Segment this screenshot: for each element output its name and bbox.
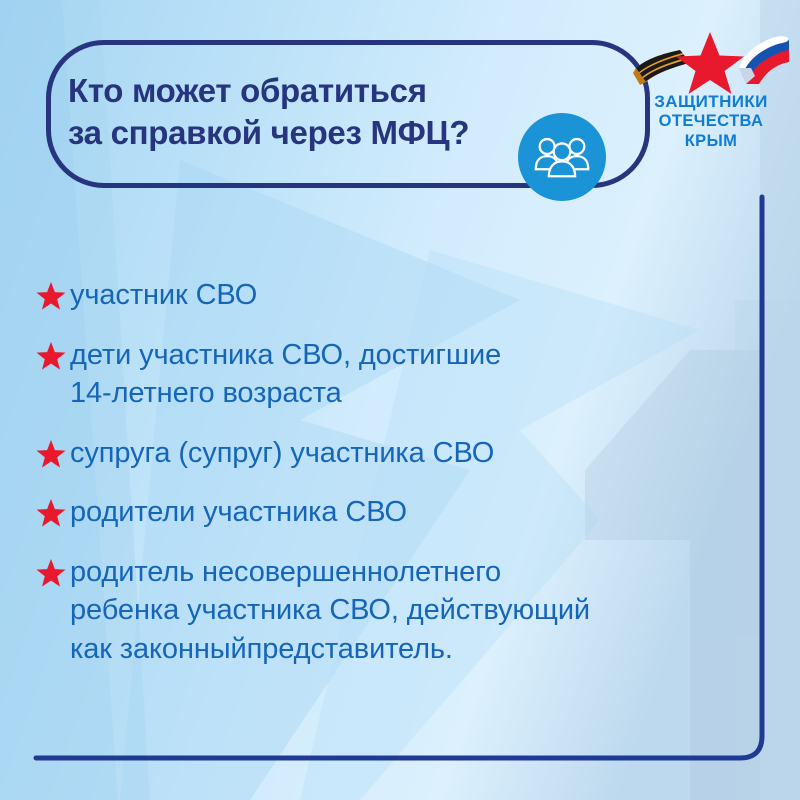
logo-line-3: КРЫМ: [632, 132, 790, 151]
red-star-bullet-icon: [36, 558, 66, 588]
people-group-glyph: [534, 132, 590, 182]
eligibility-list: участник СВО дети участника СВО, достигш…: [36, 276, 736, 690]
list-item: дети участника СВО, достигшие 14-летнего…: [36, 336, 736, 413]
poster-canvas: Кто может обратиться за справкой через М…: [0, 0, 800, 800]
brand-logo: ЗАЩИТНИКИ ОТЕЧЕСТВА КРЫМ: [632, 28, 790, 170]
list-item: супруга (супруг) участника СВО: [36, 434, 736, 473]
list-item: родитель несовершеннолетнего ребенка уча…: [36, 553, 736, 669]
logo-line-2: ОТЕЧЕСТВА: [632, 112, 790, 131]
list-item-label: дети участника СВО, достигшие 14-летнего…: [70, 336, 501, 413]
logo-line-1: ЗАЩИТНИКИ: [632, 92, 790, 112]
list-item: участник СВО: [36, 276, 736, 315]
red-star-bullet-icon: [36, 498, 66, 528]
people-group-icon: [518, 113, 606, 201]
ribbon-star-emblem-icon: [632, 28, 790, 94]
logo-wordmark: ЗАЩИТНИКИ ОТЕЧЕСТВА КРЫМ: [632, 92, 790, 151]
list-item-label: участник СВО: [70, 276, 257, 315]
list-item-label: супруга (супруг) участника СВО: [70, 434, 494, 473]
list-item-label: родитель несовершеннолетнего ребенка уча…: [70, 553, 590, 669]
red-star-bullet-icon: [36, 341, 66, 371]
red-star-bullet-icon: [36, 281, 66, 311]
list-item: родители участника СВО: [36, 493, 736, 532]
page-title: Кто может обратиться за справкой через М…: [68, 70, 538, 154]
list-item-label: родители участника СВО: [70, 493, 407, 532]
red-star-bullet-icon: [36, 439, 66, 469]
